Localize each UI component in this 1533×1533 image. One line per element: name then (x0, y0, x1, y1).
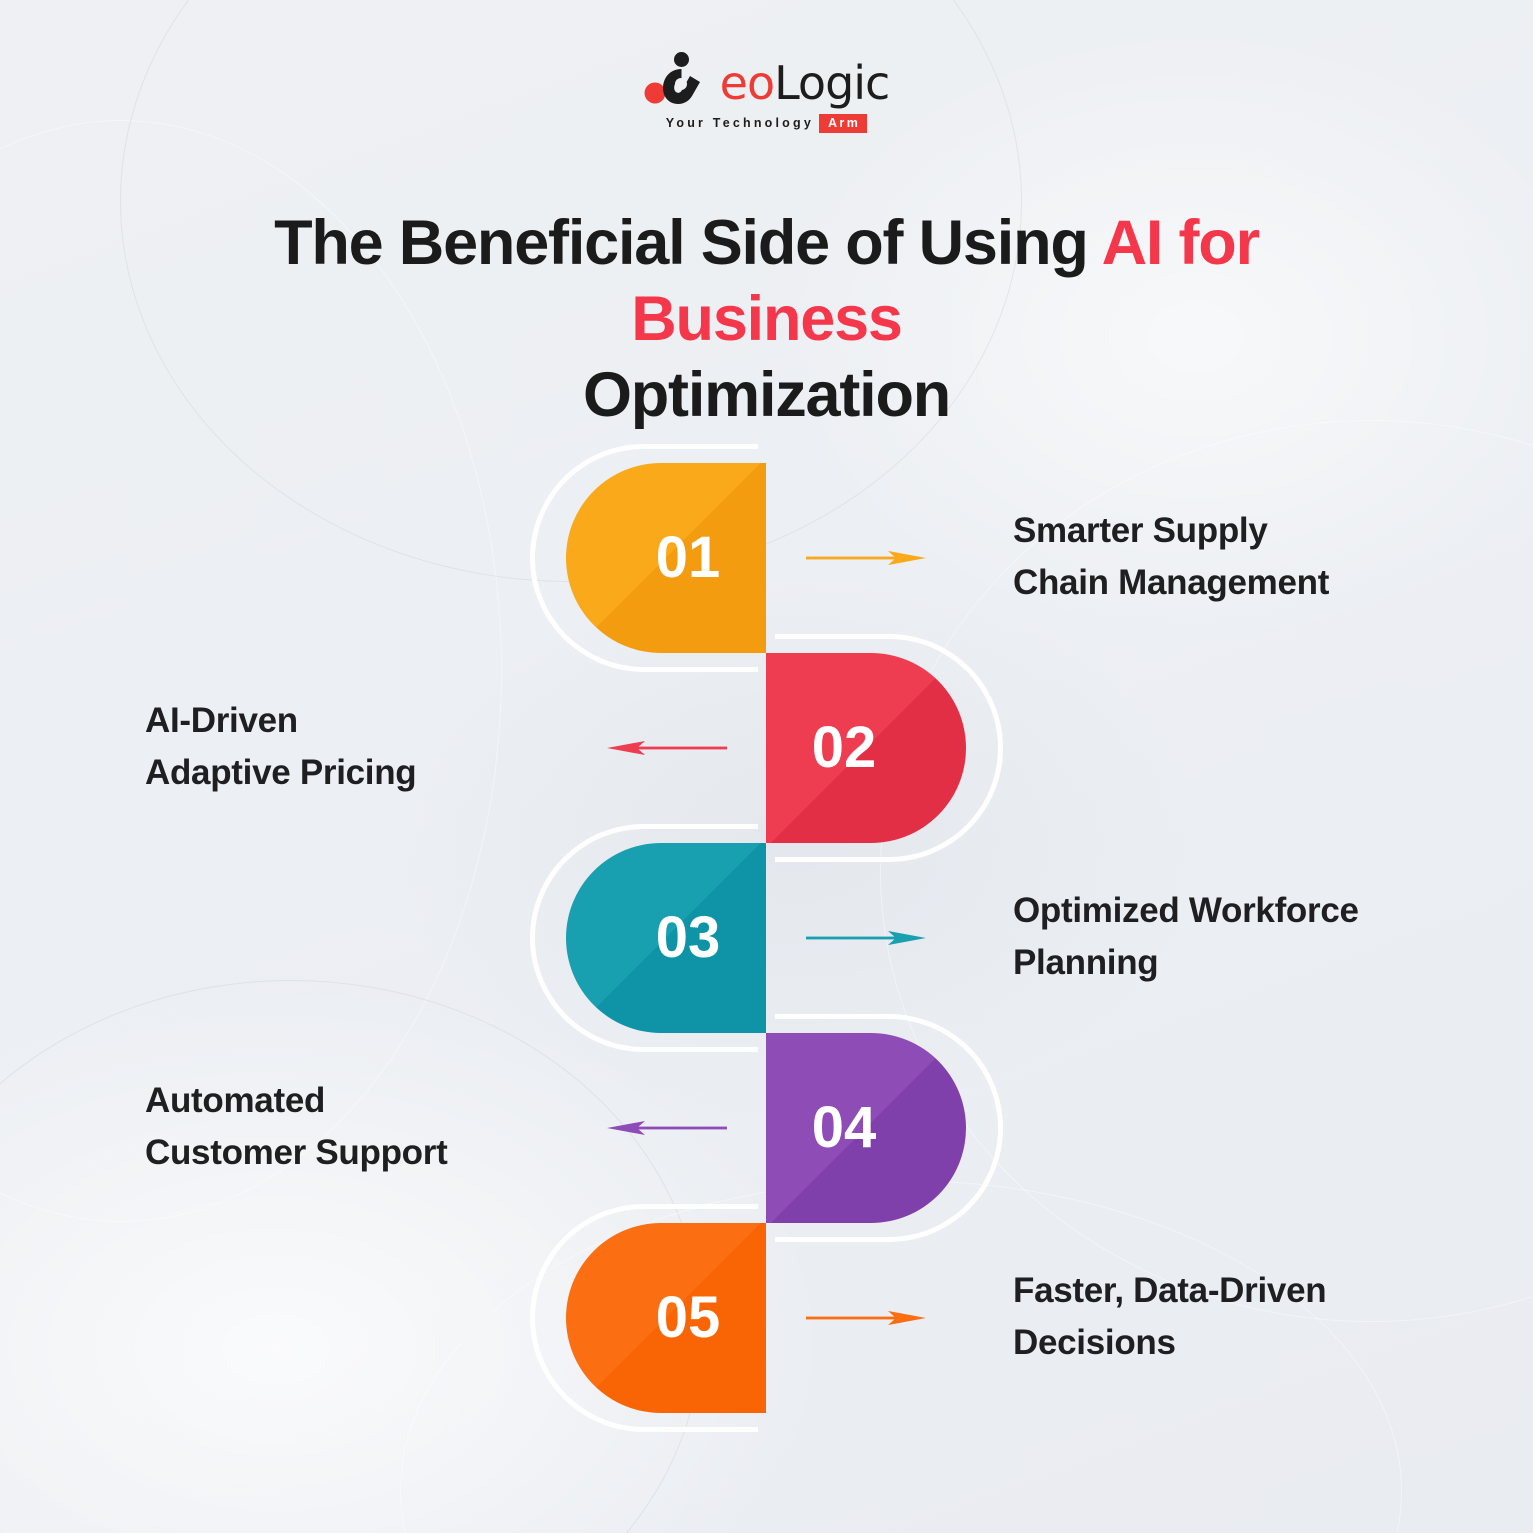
step-number: 02 (812, 719, 877, 777)
step-pill: 02 (766, 653, 966, 843)
step-arrow-right-icon (806, 931, 926, 945)
step-arrow-left-icon (607, 1121, 727, 1135)
step-label-line2: Chain Management (1013, 557, 1443, 609)
step-arrow-right-icon (806, 1311, 926, 1325)
step-number: 04 (812, 1099, 877, 1157)
step-label: Smarter SupplyChain Management (1013, 505, 1443, 609)
step-label-line1: Optimized Workforce (1013, 885, 1443, 937)
infographic-canvas: eoLogic Your Technology Arm The Benefici… (0, 0, 1533, 1533)
step-label-line1: AI-Driven (145, 695, 575, 747)
step-label: Optimized WorkforcePlanning (1013, 885, 1443, 989)
step-item: 04AutomatedCustomer Support (0, 1033, 1533, 1223)
step-item: 01Smarter SupplyChain Management (0, 463, 1533, 653)
step-arrow-left-icon (607, 741, 727, 755)
step-label-line2: Decisions (1013, 1317, 1443, 1369)
step-pill: 05 (566, 1223, 766, 1413)
step-label: AutomatedCustomer Support (145, 1075, 575, 1179)
step-label-line2: Planning (1013, 937, 1443, 989)
step-label: AI-DrivenAdaptive Pricing (145, 695, 575, 799)
step-item: 05Faster, Data-DrivenDecisions (0, 1223, 1533, 1413)
step-number: 03 (656, 909, 721, 967)
step-number: 01 (656, 529, 721, 587)
step-pill: 01 (566, 463, 766, 653)
step-label-line1: Automated (145, 1075, 575, 1127)
steps-list: 01Smarter SupplyChain Management02AI-Dri… (0, 0, 1533, 1533)
step-number: 05 (656, 1289, 721, 1347)
step-pill: 04 (766, 1033, 966, 1223)
step-label-line2: Customer Support (145, 1127, 575, 1179)
step-label-line1: Faster, Data-Driven (1013, 1265, 1443, 1317)
step-item: 02AI-DrivenAdaptive Pricing (0, 653, 1533, 843)
step-arrow-right-icon (806, 551, 926, 565)
step-item: 03Optimized WorkforcePlanning (0, 843, 1533, 1033)
step-label-line2: Adaptive Pricing (145, 747, 575, 799)
step-label: Faster, Data-DrivenDecisions (1013, 1265, 1443, 1369)
step-label-line1: Smarter Supply (1013, 505, 1443, 557)
step-pill: 03 (566, 843, 766, 1033)
